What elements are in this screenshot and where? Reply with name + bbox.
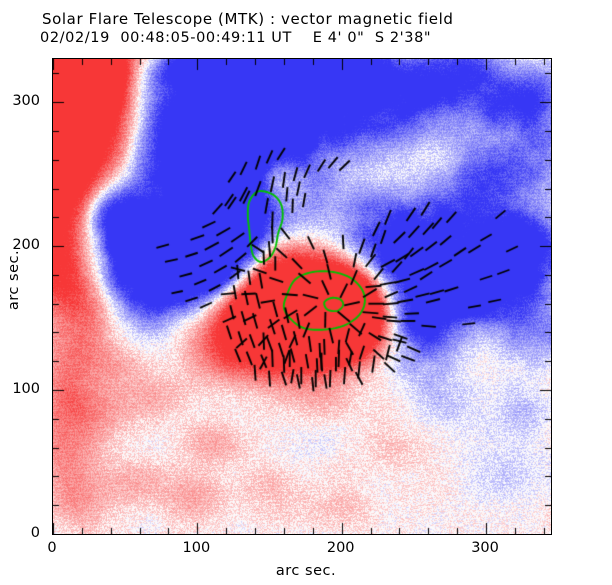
plot-area (52, 58, 552, 535)
figure-title-block: Solar Flare Telescope (MTK) : vector mag… (0, 10, 612, 48)
y-axis-title: arc sec. (6, 230, 22, 330)
x-tick-label-100: 100 (183, 540, 211, 556)
magnetic-vector-overlay (53, 59, 551, 534)
x-tick-label-200: 200 (327, 540, 355, 556)
y-tick-label-300: 300 (0, 93, 40, 109)
y-tick-label-0: 0 (0, 525, 40, 541)
x-tick-label-300: 300 (471, 540, 499, 556)
x-tick-label-0: 0 (47, 540, 56, 556)
x-axis-title: arc sec. (0, 563, 612, 579)
figure-title: Solar Flare Telescope (MTK) : vector mag… (0, 10, 612, 29)
solar-magnetogram-figure: Solar Flare Telescope (MTK) : vector mag… (0, 0, 612, 585)
figure-subtitle: 02/02/19 00:48:05-00:49:11 UT E 4' 0" S … (0, 29, 612, 48)
y-tick-label-100: 100 (0, 381, 40, 397)
